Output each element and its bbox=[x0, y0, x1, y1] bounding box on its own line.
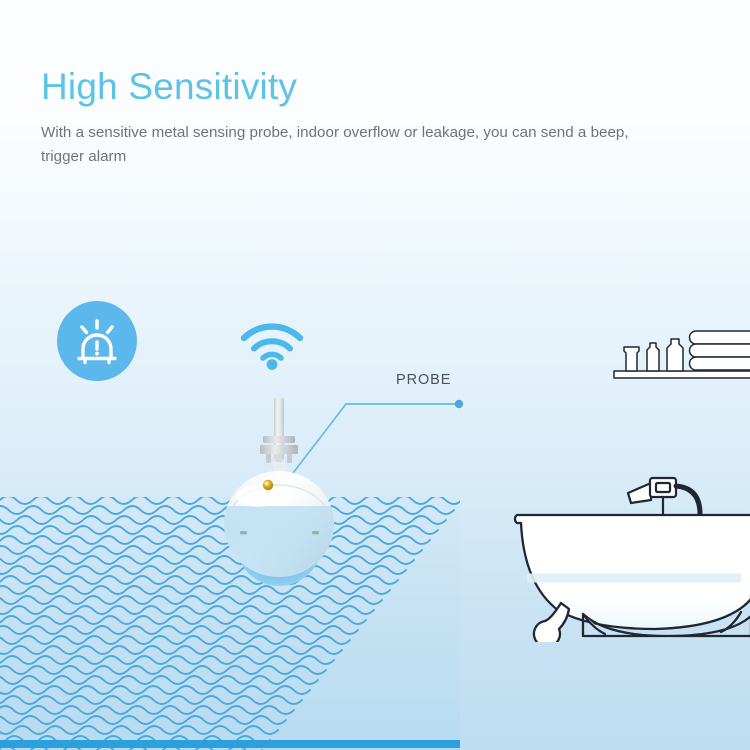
tub-body bbox=[515, 515, 750, 629]
metal-sensing-probe bbox=[260, 398, 298, 474]
clawfoot-bathtub bbox=[505, 462, 750, 642]
water-baseline-bar bbox=[0, 740, 460, 748]
page-title: High Sensitivity bbox=[41, 66, 297, 109]
bathtub-faucet-fixture bbox=[628, 478, 700, 514]
lotion-bottle bbox=[647, 343, 659, 371]
status-led-indicator bbox=[263, 480, 273, 490]
folded-towels bbox=[690, 331, 750, 370]
probe-annotation-label: PROBE bbox=[396, 372, 451, 388]
shampoo-bottle bbox=[667, 339, 683, 371]
feature-description: With a sensitive metal sensing probe, in… bbox=[41, 121, 673, 168]
toothpaste-tube bbox=[624, 347, 639, 371]
water-leak-sensor-device bbox=[214, 396, 344, 591]
wifi-signal-icon bbox=[240, 322, 304, 370]
siren-alarm-icon bbox=[57, 301, 137, 381]
product-feature-slide: High Sensitivity With a sensitive metal … bbox=[0, 0, 750, 750]
bathroom-shelf bbox=[612, 322, 750, 386]
